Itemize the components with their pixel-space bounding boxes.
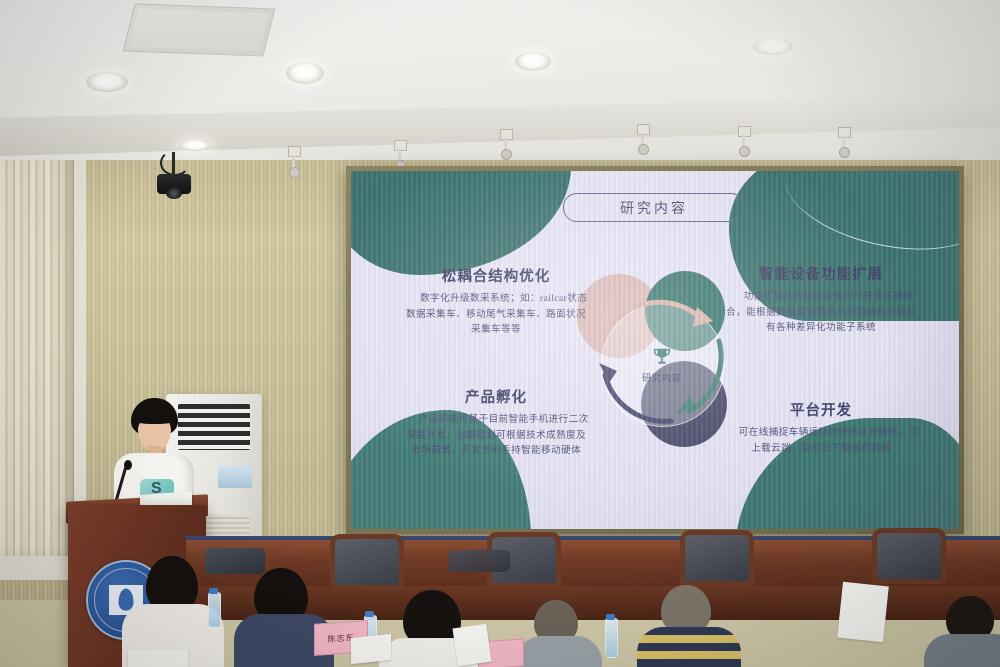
block-heading: 智能设备功能扩展 <box>723 263 919 284</box>
ceiling-downlight-3 <box>179 140 211 151</box>
water-bottle-1[interactable] <box>208 592 221 628</box>
handout-sheet-4 <box>128 650 188 667</box>
ceiling-downlight-5 <box>753 38 793 55</box>
water-bottle-cap-3 <box>606 614 615 620</box>
track-head-6 <box>839 147 850 158</box>
block-body: 数字化升级数采系统；如：railcar状态数据采集车、移动尾气采集车、路面状况采… <box>403 291 589 338</box>
track-head-4 <box>638 144 649 155</box>
audience-body <box>924 634 1000 667</box>
track-head-5 <box>739 146 750 157</box>
track-head-1 <box>289 167 300 178</box>
water-bottle-3[interactable] <box>605 618 618 658</box>
handout-sheet-1 <box>351 634 391 664</box>
block-heading: 平台开发 <box>723 399 919 420</box>
block-body: 功能扩展后的智能设备可与任意车辆组合，能根据数据类别需求不同而耦合形成具有各种差… <box>723 289 919 336</box>
laptop-bag-on-dais <box>205 548 265 574</box>
ceiling-vent-panel <box>123 4 276 57</box>
diagram-hub-label: 研究内容 <box>642 371 682 384</box>
dais-chair-1 <box>330 534 404 590</box>
slide-title-dot <box>544 200 559 213</box>
slide-title-pill: 研究内容 <box>563 193 745 222</box>
room-background: 研究内容 <box>0 0 1000 667</box>
presentation-slide: 研究内容 <box>351 171 959 529</box>
audience-body <box>516 636 602 667</box>
projector-lens <box>166 188 182 199</box>
projection-screen-frame: 研究内容 <box>346 166 964 534</box>
ceiling-downlight-4 <box>515 52 551 71</box>
presentation-room-photo: 研究内容 <box>0 0 1000 667</box>
projector-cable <box>160 150 190 176</box>
jacket-on-dais <box>448 550 510 572</box>
emblem-flame-icon <box>119 589 134 611</box>
slide-block-loose-coupling: 松耦合结构优化 数字化升级数采系统；如：railcar状态数据采集车、移动尾气采… <box>403 265 589 338</box>
audience-body <box>637 627 741 667</box>
trophy-icon <box>651 346 673 368</box>
podium-microphone-head <box>124 460 132 470</box>
water-bottle-cap-2 <box>365 611 374 617</box>
slide-title: 研究内容 <box>620 198 688 218</box>
dais-chair-3 <box>680 530 754 586</box>
slide-block-product-incubation: 产品孵化 产品初期可基于目前智能手机进行二次深度开发，远期规划可根据技术成熟度及… <box>403 386 589 459</box>
ceiling-downlight-2 <box>286 62 324 84</box>
projector-mount-arm <box>172 152 175 174</box>
water-bottle-cap-1 <box>209 588 218 594</box>
block-heading: 松耦合结构优化 <box>403 265 589 286</box>
block-body: 产品初期可基于目前智能手机进行二次深度开发，远期规划可根据技术成熟度及市场前景，… <box>403 412 589 459</box>
block-body: 可在线捕捉车辆运动时空信息并解析，可上载云端、监控及下载保存数据 <box>723 425 919 456</box>
slide-block-platform-development: 平台开发 可在线捕捉车辆运动时空信息并解析，可上载云端、监控及下载保存数据 <box>723 399 919 456</box>
handout-sheet-3 <box>837 582 889 643</box>
ceiling-downlight-1 <box>86 72 128 92</box>
diagram-hub: 研究内容 <box>613 329 711 401</box>
ac-control-panel <box>218 466 252 488</box>
slide-block-device-expansion: 智能设备功能扩展 功能扩展后的智能设备可与任意车辆组合，能根据数据类别需求不同而… <box>723 263 919 336</box>
block-heading: 产品孵化 <box>403 386 589 407</box>
vent-inner <box>129 9 269 52</box>
window-curtain <box>0 136 74 556</box>
track-head-3 <box>501 149 512 160</box>
dais-chair-4 <box>872 528 946 584</box>
handout-sheet-2 <box>453 624 492 666</box>
